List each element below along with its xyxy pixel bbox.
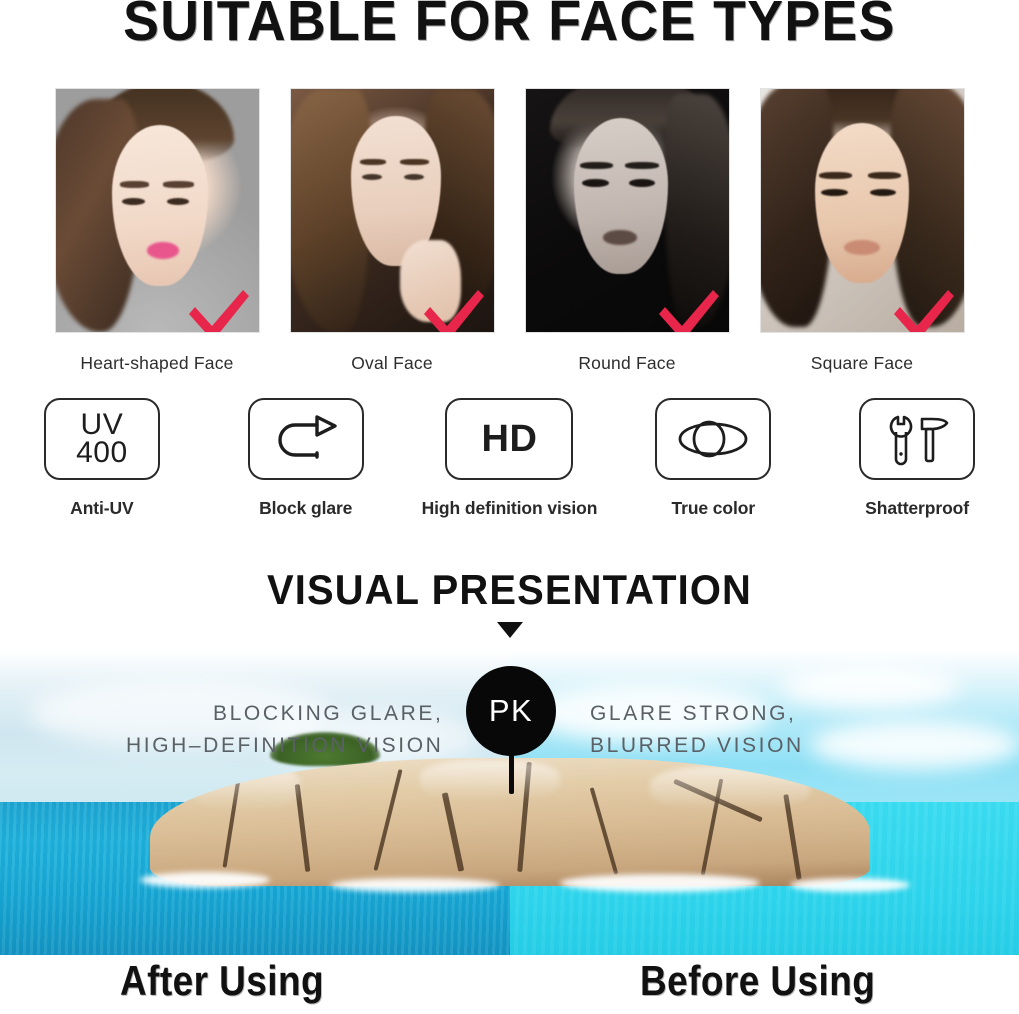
eye-lens-icon: [655, 398, 771, 480]
face-photo-heart-shaped: [55, 88, 260, 333]
face-types-row: Heart-shaped Face Oval Face: [0, 88, 1019, 378]
face-type-label: Heart-shaped Face: [80, 353, 233, 374]
overlay-after-line2: HIGH–DEFINITION VISION: [126, 730, 443, 762]
uv400-icon: UV 400: [44, 398, 160, 480]
features-row: UV 400 Anti-UV Block glare HD High de: [0, 398, 1019, 538]
check-icon: [890, 286, 956, 333]
pk-badge-label: PK: [489, 693, 533, 729]
visual-presentation-heading: VISUAL PRESENTATION: [25, 566, 993, 614]
face-type-card: Square Face: [760, 88, 965, 378]
wrench-hammer-icon: [859, 398, 975, 480]
face-photo-oval: [290, 88, 495, 333]
face-type-label: Oval Face: [351, 353, 433, 374]
eye-lens-glyph: [673, 415, 753, 463]
caption-after-using: After Using: [120, 957, 324, 1005]
face-type-card: Oval Face: [290, 88, 495, 378]
feature-block-glare: Block glare: [204, 398, 408, 519]
chevron-down-icon: [497, 622, 523, 638]
uv-badge-line1: UV: [76, 411, 128, 439]
hd-badge-text: HD: [482, 418, 538, 461]
uturn-arrow-icon: [248, 398, 364, 480]
comparison-scene: BLOCKING GLARE, HIGH–DEFINITION VISION G…: [0, 650, 1019, 955]
feature-true-color: True color: [611, 398, 815, 519]
surf-foam: [140, 872, 270, 888]
surf-foam: [330, 878, 500, 892]
feature-label: Block glare: [259, 498, 352, 519]
caption-before-using: Before Using: [640, 957, 875, 1005]
uturn-arrow-glyph: [269, 413, 343, 465]
overlay-before-line1: GLARE STRONG,: [590, 698, 804, 730]
overlay-text-before: GLARE STRONG, BLURRED VISION: [590, 698, 804, 761]
surf-foam: [560, 874, 760, 892]
face-photo-square: [760, 88, 965, 333]
overlay-text-after: BLOCKING GLARE, HIGH–DEFINITION VISION: [126, 698, 443, 761]
face-type-label: Round Face: [578, 353, 675, 374]
feature-label: True color: [671, 498, 755, 519]
check-icon: [655, 286, 721, 333]
overlay-before-line2: BLURRED VISION: [590, 730, 804, 762]
face-type-label: Square Face: [811, 353, 913, 374]
feature-shatterproof: Shatterproof: [815, 398, 1019, 519]
surf-foam: [790, 878, 910, 892]
infographic-page: SUITABLE FOR FACE TYPES Heart-shaped Fac…: [0, 0, 1019, 1014]
page-title: SUITABLE FOR FACE TYPES: [31, 0, 989, 54]
check-icon: [420, 286, 486, 333]
check-icon: [185, 286, 251, 333]
face-type-card: Heart-shaped Face: [55, 88, 260, 378]
face-type-card: Round Face: [525, 88, 730, 378]
overlay-after-line1: BLOCKING GLARE,: [126, 698, 443, 730]
wrench-hammer-glyph: [879, 411, 955, 467]
feature-high-definition-vision: HD High definition vision: [408, 398, 612, 519]
pk-badge: PK: [466, 666, 556, 796]
uv-badge-line2: 400: [76, 439, 128, 467]
bottom-captions-row: After Using Before Using: [0, 955, 1019, 1014]
feature-label: Anti-UV: [70, 498, 133, 519]
feature-label: High definition vision: [422, 498, 598, 519]
face-photo-round: [525, 88, 730, 333]
feature-label: Shatterproof: [865, 498, 969, 519]
hd-icon: HD: [445, 398, 573, 480]
pk-badge-circle: PK: [466, 666, 556, 756]
feature-anti-uv: UV 400 Anti-UV: [0, 398, 204, 519]
